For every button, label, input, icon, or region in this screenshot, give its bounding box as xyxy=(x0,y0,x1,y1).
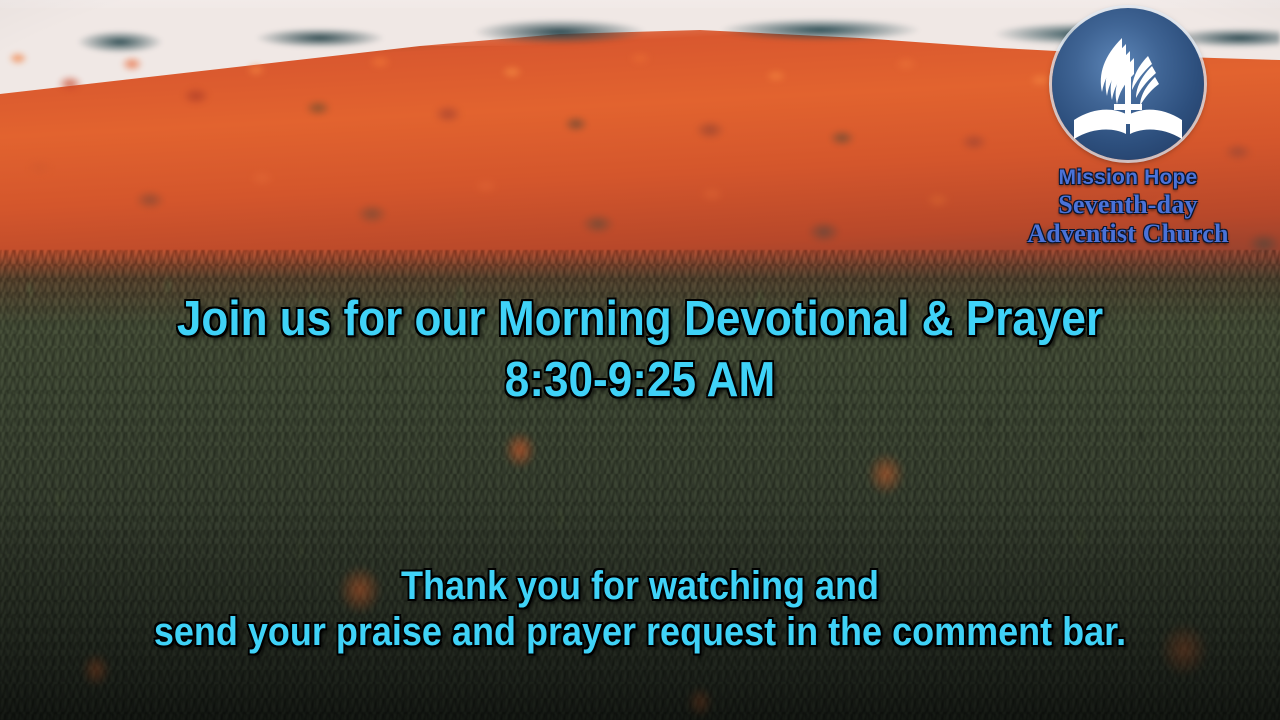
thank-you-caption: Thank you for watching and xyxy=(64,566,1216,607)
comment-request-caption: send your praise and prayer request in t… xyxy=(64,612,1216,653)
service-time-caption: 8:30-9:25 AM xyxy=(64,356,1216,406)
adventist-flame-bible-cross-icon xyxy=(1052,8,1204,160)
logo-text-seventh-day: Seventh-day xyxy=(998,191,1258,218)
video-frame: Mission Hope Seventh-day Adventist Churc… xyxy=(0,0,1280,720)
logo-text-mission-hope: Mission Hope xyxy=(998,167,1258,189)
announcement-caption: Join us for our Morning Devotional & Pra… xyxy=(64,295,1216,345)
logo-text-adventist-church: Adventist Church xyxy=(998,220,1258,247)
church-logo-badge: Mission Hope Seventh-day Adventist Churc… xyxy=(998,8,1258,247)
